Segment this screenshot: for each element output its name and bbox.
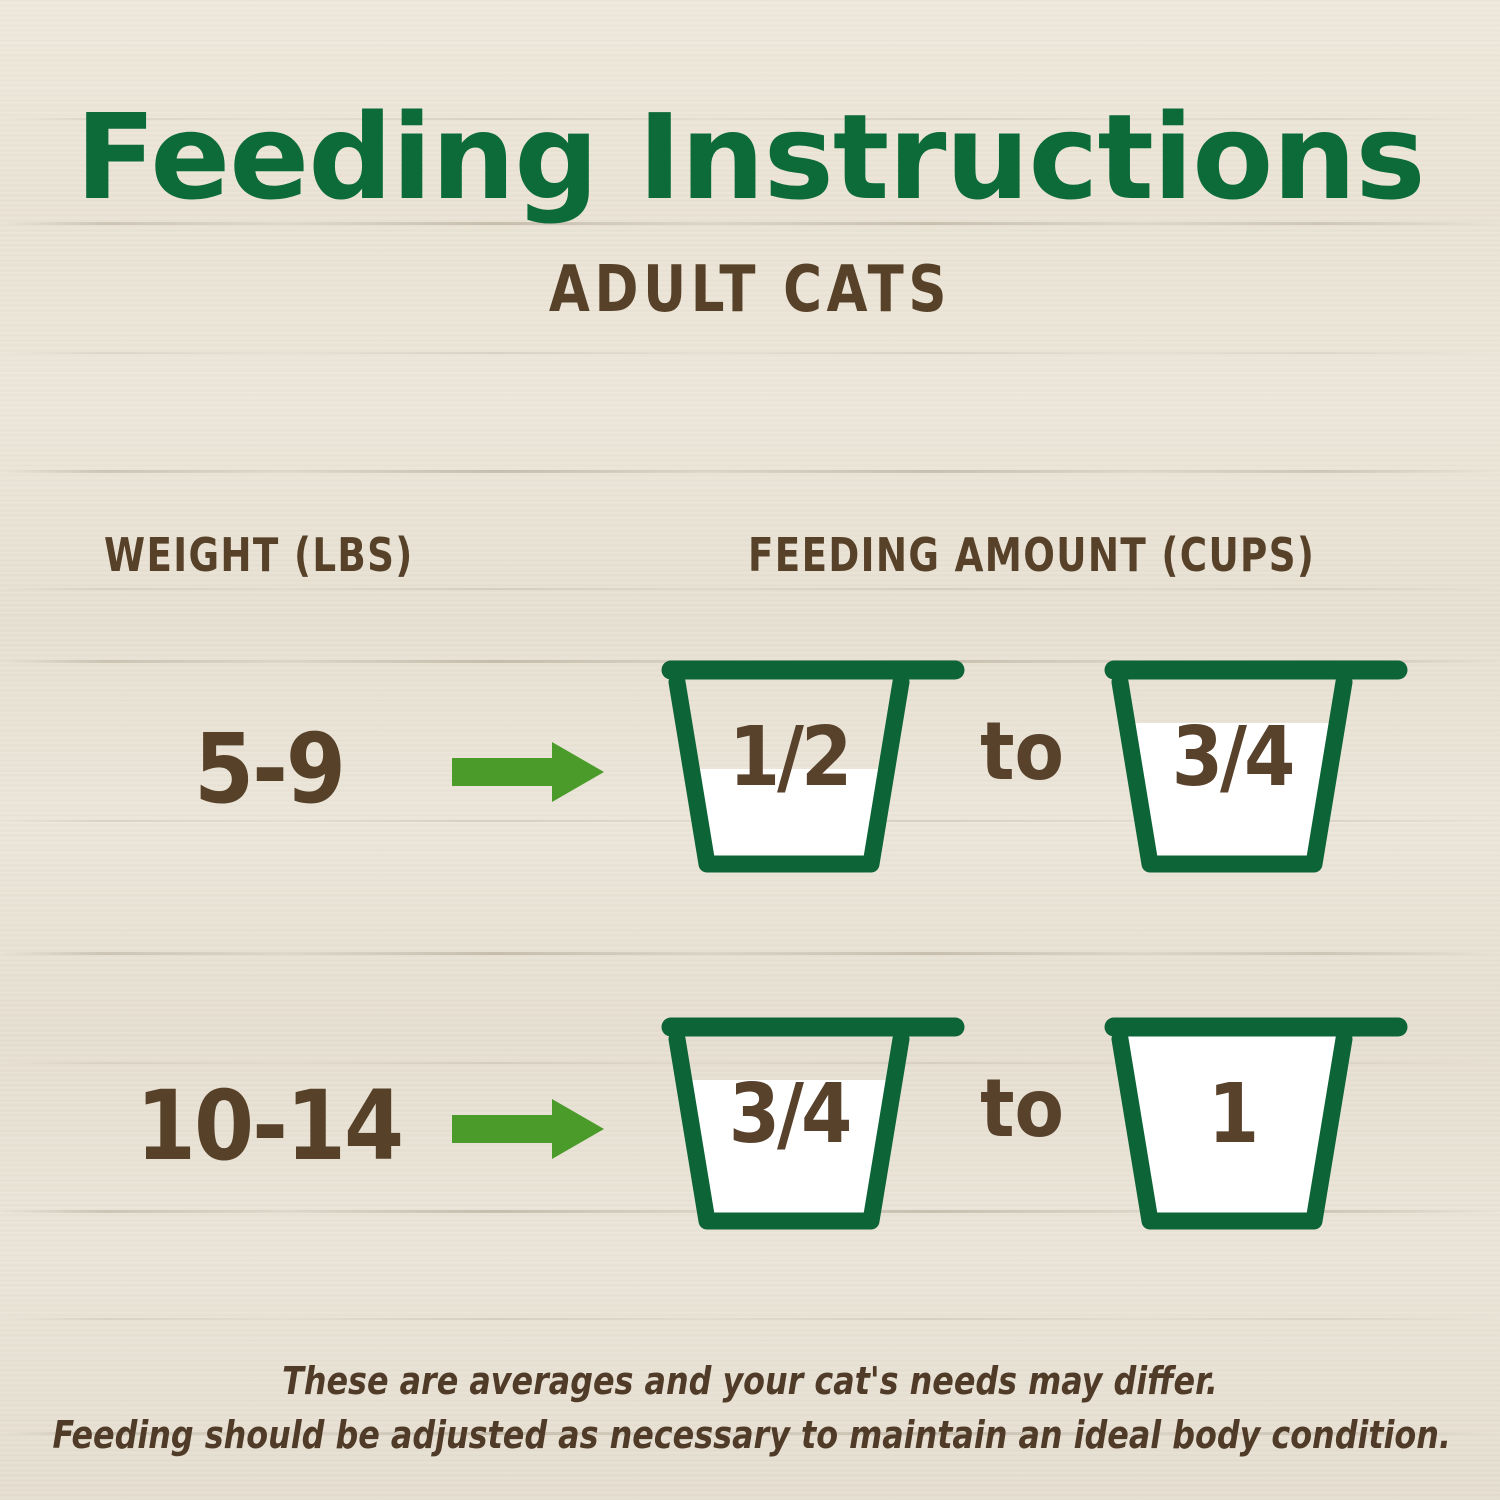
wood-seam	[0, 352, 1500, 354]
footnote-line-2: Feeding should be adjusted as necessary …	[53, 1409, 1448, 1463]
table-row: 5-9 1/2 to	[0, 638, 1500, 900]
table-row: 10-14 3/4 to	[0, 995, 1500, 1257]
weight-range-label: 5-9	[104, 694, 434, 844]
range-separator: to	[952, 712, 1092, 792]
measuring-cup-max: 3/4	[1098, 648, 1428, 890]
page-title: Feeding Instructions	[0, 98, 1500, 216]
range-separator: to	[952, 1069, 1092, 1149]
wood-seam	[0, 952, 1500, 955]
measuring-cup-min: 1/2	[655, 648, 985, 890]
arrow-right-icon	[452, 1099, 604, 1159]
feeding-instructions-panel: Feeding Instructions ADULT CATS WEIGHT (…	[0, 0, 1500, 1500]
column-header-feeding-amount: FEEDING AMOUNT (CUPS)	[748, 532, 1315, 578]
wood-seam	[0, 1318, 1500, 1320]
measuring-cup-max: 1	[1098, 1005, 1428, 1247]
wood-seam	[0, 588, 1500, 590]
column-header-weight: WEIGHT (LBS)	[104, 532, 414, 578]
footnote-line-1: These are averages and your cat's needs …	[53, 1355, 1448, 1409]
arrow-right-icon	[452, 742, 604, 802]
page-subtitle: ADULT CATS	[60, 258, 1440, 322]
footnote: These are averages and your cat's needs …	[53, 1355, 1448, 1463]
wood-seam	[0, 470, 1500, 473]
weight-range-label: 10-14	[104, 1051, 434, 1201]
measuring-cup-min: 3/4	[655, 1005, 985, 1247]
